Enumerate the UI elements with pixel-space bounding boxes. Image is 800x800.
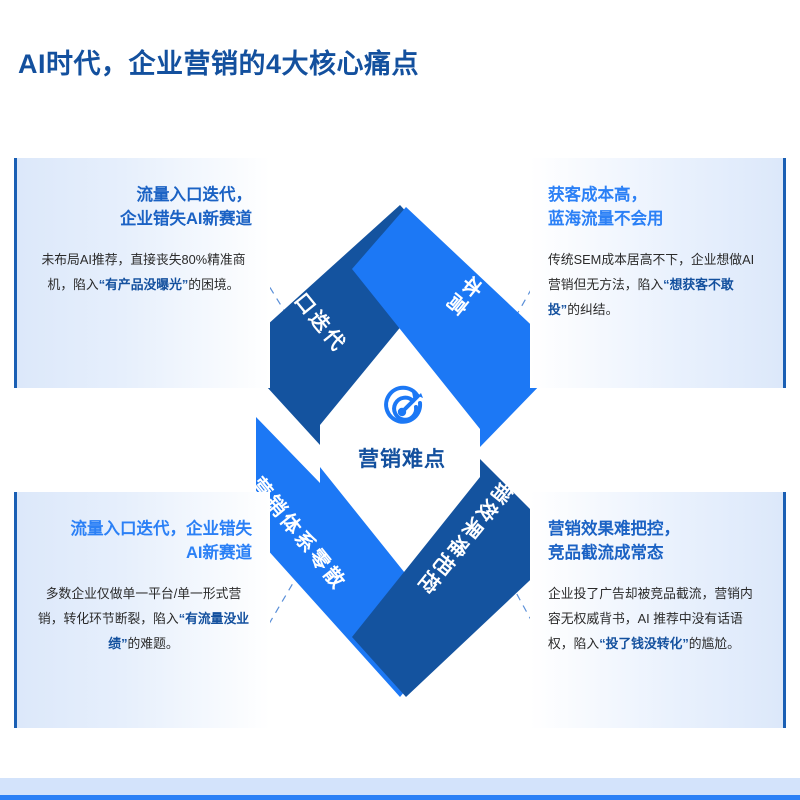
target-arrow-icon [330,385,474,437]
infographic-stage: AI时代，企业营销的4大核心痛点 流量入口迭代 获客成本高 营销体系零散 营销效… [0,0,800,800]
card-body-bottom-right: 企业投了广告却被竞品截流，营销内容无权威背书，AI 推荐中没有话语权，陷入“投了… [548,582,765,657]
card-body-top-right: 传统SEM成本居高不下，企业想做AI营销但无方法，陷入“想获客不敢投”的纠结。 [548,248,765,323]
pain-point-card-bottom-right[interactable]: 营销效果难把控，竞品截流成常态 企业投了广告却被竞品截流，营销内容无权威背书，A… [530,492,786,728]
card-body-tail: 的纠结。 [567,302,618,317]
pain-point-card-top-left[interactable]: 流量入口迭代，企业错失AI新赛道 未布局AI推荐，直接丧失80%精准商机，陷入“… [14,158,270,388]
diamond-hub: 营销难点 [330,385,474,485]
hub-label: 营销难点 [330,443,474,473]
card-sheet: 获客成本高，蓝海流量不会用 传统SEM成本居高不下，企业想做AI营销但无方法，陷… [530,158,783,388]
card-body-highlight: “有产品没曝光” [99,277,189,292]
card-sheet: 流量入口迭代，企业错失AI新赛道 未布局AI推荐，直接丧失80%精准商机，陷入“… [17,158,270,388]
footer-band [0,778,800,795]
card-title-top-left: 流量入口迭代，企业错失AI新赛道 [35,184,252,232]
card-accent-rail [783,492,786,728]
card-body-tail: 的尴尬。 [689,636,740,651]
card-accent-rail [783,158,786,388]
card-sheet: 营销效果难把控，竞品截流成常态 企业投了广告却被竞品截流，营销内容无权威背书，A… [530,492,783,728]
card-title-top-right: 获客成本高，蓝海流量不会用 [548,184,765,232]
card-body-tail: 的困境。 [188,277,239,292]
card-title-bottom-left: 流量入口迭代，企业错失AI新赛道 [35,518,252,566]
pain-point-card-top-right[interactable]: 获客成本高，蓝海流量不会用 传统SEM成本居高不下，企业想做AI营销但无方法，陷… [530,158,786,388]
card-title-bottom-right: 营销效果难把控，竞品截流成常态 [548,518,765,566]
card-body-bottom-left: 多数企业仅做单一平台/单一形式营销，转化环节断裂，陷入“有流量没业绩”的难题。 [35,582,252,657]
card-body-top-left: 未布局AI推荐，直接丧失80%精准商机，陷入“有产品没曝光”的困境。 [35,248,252,298]
footer-rule [0,795,800,800]
card-body-tail: 的难题。 [128,636,179,651]
pain-point-card-bottom-left[interactable]: 流量入口迭代，企业错失AI新赛道 多数企业仅做单一平台/单一形式营销，转化环节断… [14,492,270,728]
card-sheet: 流量入口迭代，企业错失AI新赛道 多数企业仅做单一平台/单一形式营销，转化环节断… [17,492,270,728]
card-body-highlight: “投了钱没转化” [599,636,689,651]
